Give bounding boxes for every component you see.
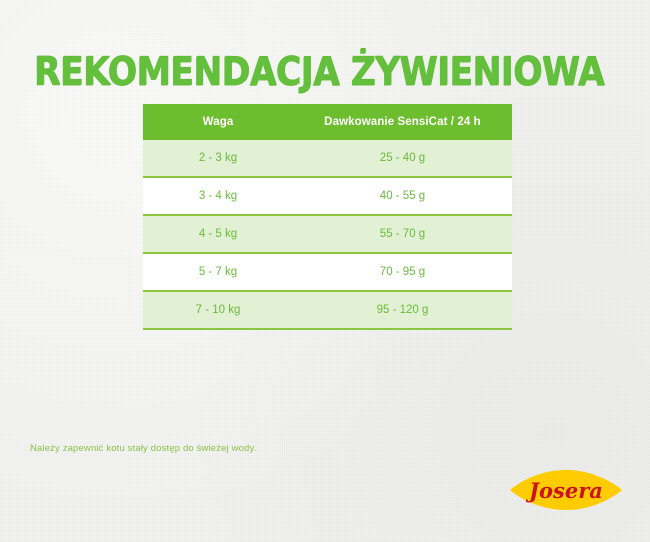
cell-dose: 40 - 55 g: [293, 177, 512, 215]
column-header-dose: Dawkowanie SensiCat / 24 h: [293, 104, 512, 140]
table-row: 7 - 10 kg 95 - 120 g: [143, 291, 512, 329]
table-row: 5 - 7 kg 70 - 95 g: [143, 253, 512, 291]
logo-wordmark: Josera: [525, 478, 603, 503]
cell-dose: 70 - 95 g: [293, 253, 512, 291]
cell-weight: 3 - 4 kg: [143, 177, 293, 215]
cell-weight: 4 - 5 kg: [143, 215, 293, 253]
column-header-weight: Waga: [143, 104, 293, 140]
cell-weight: 7 - 10 kg: [143, 291, 293, 329]
cell-dose: 25 - 40 g: [293, 140, 512, 177]
table-header: Waga Dawkowanie SensiCat / 24 h: [143, 104, 512, 140]
table-row: 3 - 4 kg 40 - 55 g: [143, 177, 512, 215]
josera-logo: Josera: [510, 469, 622, 511]
cell-weight: 5 - 7 kg: [143, 253, 293, 291]
table-header-row: Waga Dawkowanie SensiCat / 24 h: [143, 104, 512, 140]
cell-weight: 2 - 3 kg: [143, 140, 293, 177]
water-access-footnote: Należy zapewnić kotu stały dostęp do świ…: [30, 443, 256, 454]
table-row: 4 - 5 kg 55 - 70 g: [143, 215, 512, 253]
cell-dose: 55 - 70 g: [293, 215, 512, 253]
table-body: 2 - 3 kg 25 - 40 g 3 - 4 kg 40 - 55 g 4 …: [143, 140, 512, 329]
josera-logo-icon: Josera: [510, 469, 622, 511]
page-title: REKOMENDACJA ŻYWIENIOWA: [34, 51, 604, 93]
cell-dose: 95 - 120 g: [293, 291, 512, 329]
page-content: REKOMENDACJA ŻYWIENIOWA Waga Dawkowanie …: [0, 0, 650, 542]
table-row: 2 - 3 kg 25 - 40 g: [143, 140, 512, 177]
feeding-recommendation-table: Waga Dawkowanie SensiCat / 24 h 2 - 3 kg…: [143, 104, 512, 330]
